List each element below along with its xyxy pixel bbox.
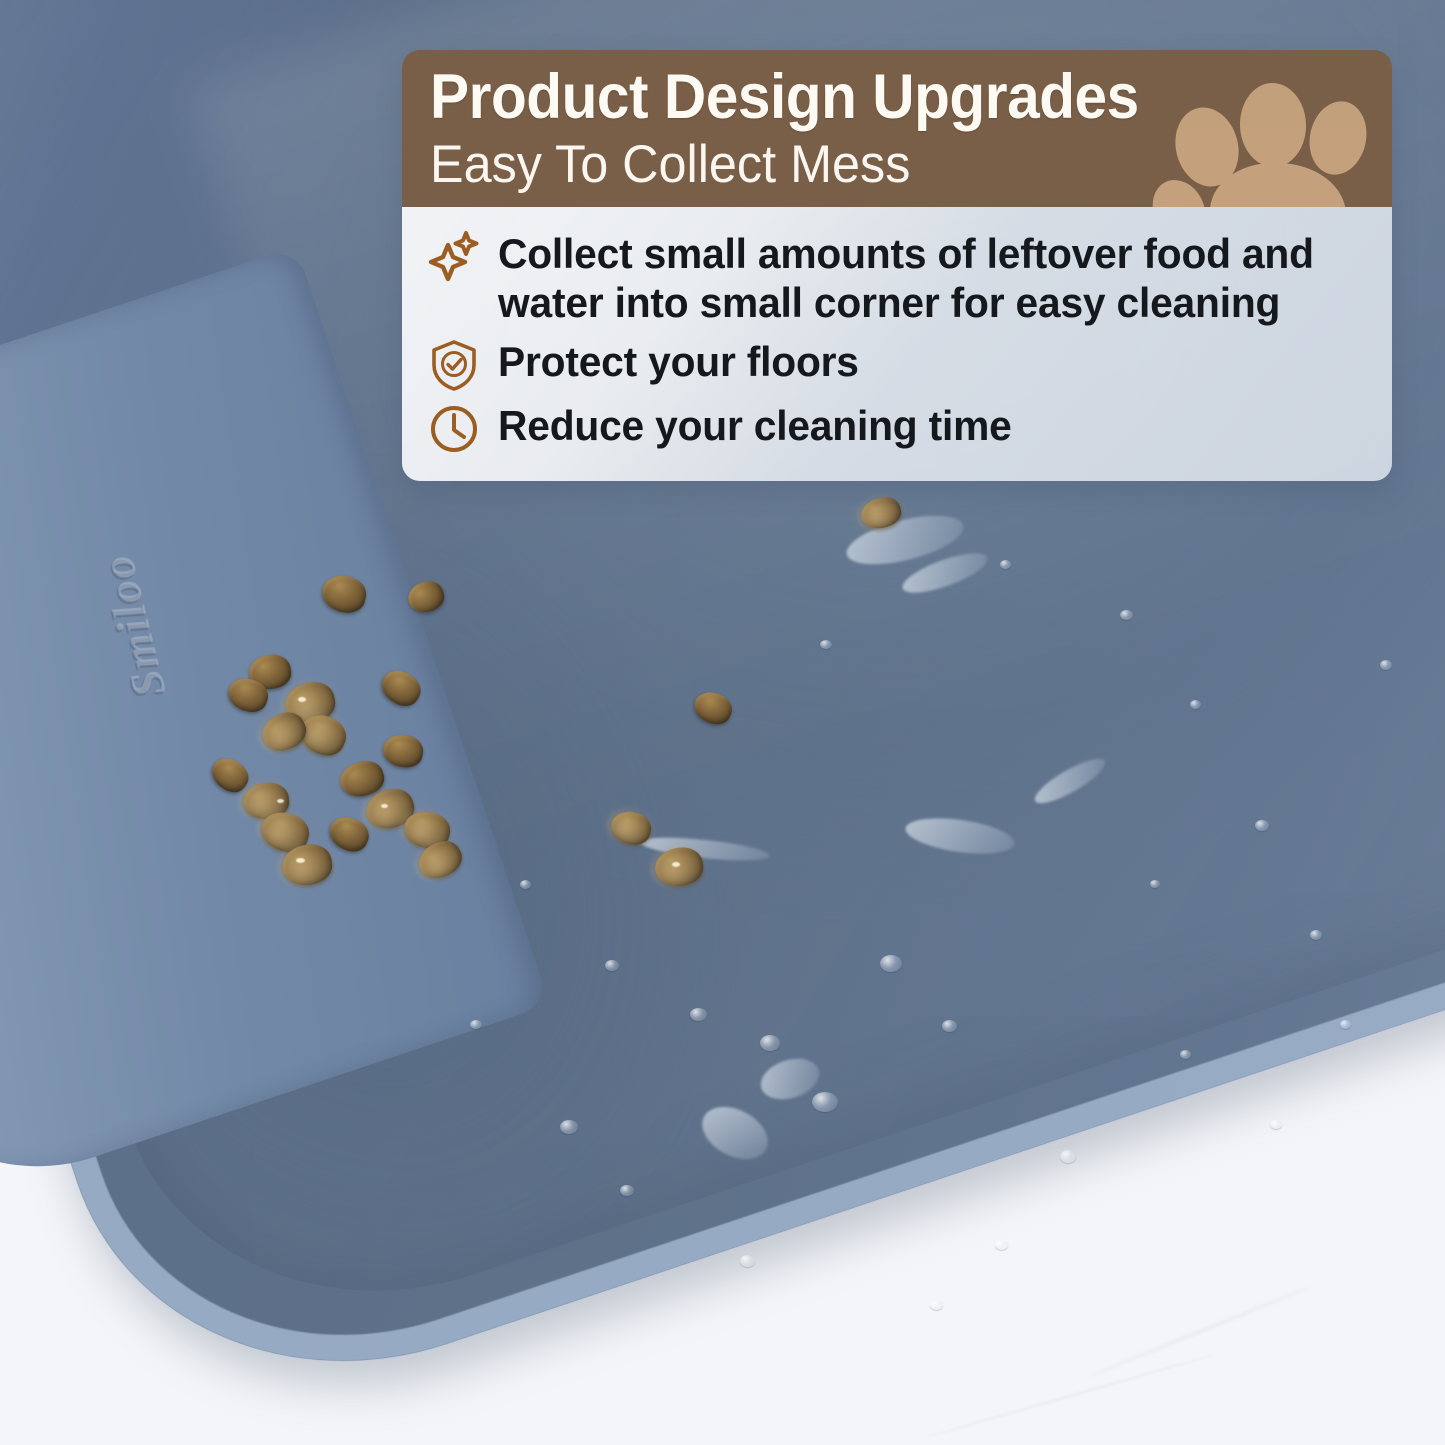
shield-check-icon <box>428 339 480 391</box>
feature-bullet: Protect your floors <box>428 337 1362 391</box>
feature-bullet-text: Collect small amounts of leftover food a… <box>498 229 1336 327</box>
feature-bullet-text: Protect your floors <box>498 337 859 386</box>
sparkle-icon <box>428 231 480 283</box>
card-subtitle: Easy To Collect Mess <box>430 137 1344 193</box>
clock-icon <box>428 403 480 455</box>
feature-info-card: Product Design Upgrades Easy To Collect … <box>402 50 1392 481</box>
feature-bullet-text: Reduce your cleaning time <box>498 401 1012 450</box>
feature-bullet: Collect small amounts of leftover food a… <box>428 229 1362 327</box>
card-header: Product Design Upgrades Easy To Collect … <box>402 50 1392 207</box>
card-body: Collect small amounts of leftover food a… <box>402 207 1392 481</box>
feature-bullet: Reduce your cleaning time <box>428 401 1362 455</box>
product-marketing-image: Smiloo <box>0 0 1445 1445</box>
card-title: Product Design Upgrades <box>430 66 1325 129</box>
